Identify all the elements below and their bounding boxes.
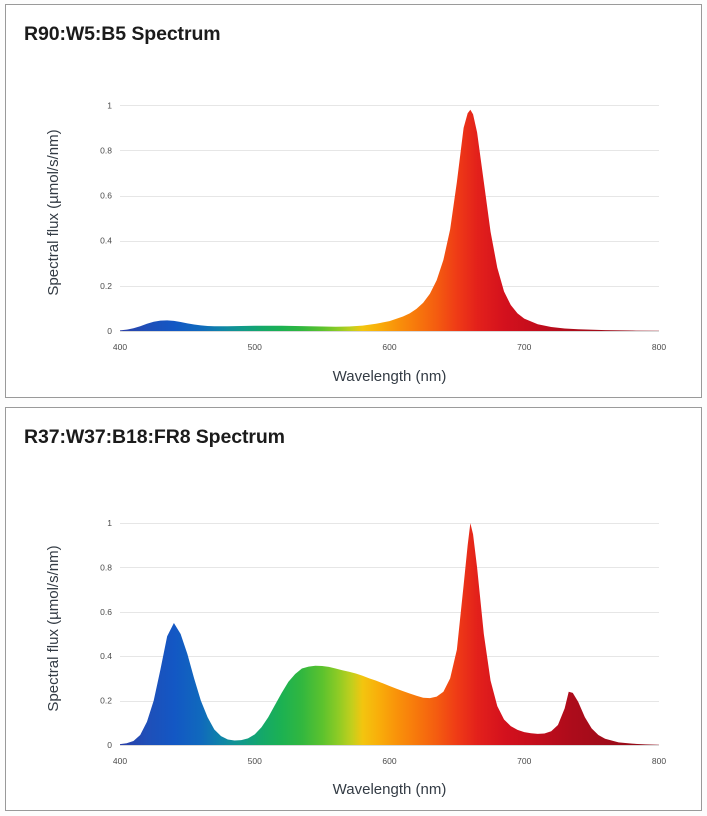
x-axis-title: Wavelength (nm) <box>333 368 447 385</box>
x-tick-label: 500 <box>248 342 262 352</box>
x-tick-label: 400 <box>113 342 127 352</box>
y-tick-label: 0.6 <box>100 191 112 201</box>
x-tick-label: 600 <box>382 342 396 352</box>
chart-1-svg: 40050060070080000.20.40.60.81Wavelength … <box>6 5 702 397</box>
x-tick-label: 500 <box>248 756 262 766</box>
y-tick-label: 1 <box>107 100 112 110</box>
x-tick-label: 800 <box>652 342 666 352</box>
y-tick-label: 0.6 <box>100 607 112 617</box>
y-tick-label: 0.8 <box>100 562 112 572</box>
y-tick-label: 0.2 <box>100 696 112 706</box>
x-tick-label: 700 <box>517 756 531 766</box>
spectrum-area <box>120 110 659 331</box>
y-tick-label: 0 <box>107 740 112 750</box>
x-tick-label: 800 <box>652 756 666 766</box>
y-tick-label: 1 <box>107 518 112 528</box>
spectrum-area <box>120 523 659 745</box>
x-axis-title: Wavelength (nm) <box>333 781 447 798</box>
gridlines <box>120 106 659 332</box>
y-tick-label: 0.8 <box>100 145 112 155</box>
spectrum-report-page: R90:W5:B5 Spectrum 40050060070080000.20.… <box>0 0 707 816</box>
chart-2-plot-area: 40050060070080000.20.40.60.81Wavelength … <box>6 408 701 810</box>
chart-1-plot-area: 40050060070080000.20.40.60.81Wavelength … <box>6 5 701 397</box>
y-tick-label: 0.2 <box>100 281 112 291</box>
x-tick-label: 400 <box>113 756 127 766</box>
y-tick-label: 0.4 <box>100 236 112 246</box>
spectrum-panel-1: R90:W5:B5 Spectrum 40050060070080000.20.… <box>5 4 702 398</box>
y-tick-label: 0 <box>107 326 112 336</box>
y-axis-title: Spectral flux (µmol/s/nm) <box>45 129 62 295</box>
x-tick-label: 700 <box>517 342 531 352</box>
x-tick-label: 600 <box>382 756 396 766</box>
chart-2-svg: 40050060070080000.20.40.60.81Wavelength … <box>6 408 702 810</box>
spectrum-panel-2: R37:W37:B18:FR8 Spectrum 400500600700800… <box>5 407 702 811</box>
y-axis-title: Spectral flux (µmol/s/nm) <box>45 545 62 711</box>
y-tick-label: 0.4 <box>100 651 112 661</box>
